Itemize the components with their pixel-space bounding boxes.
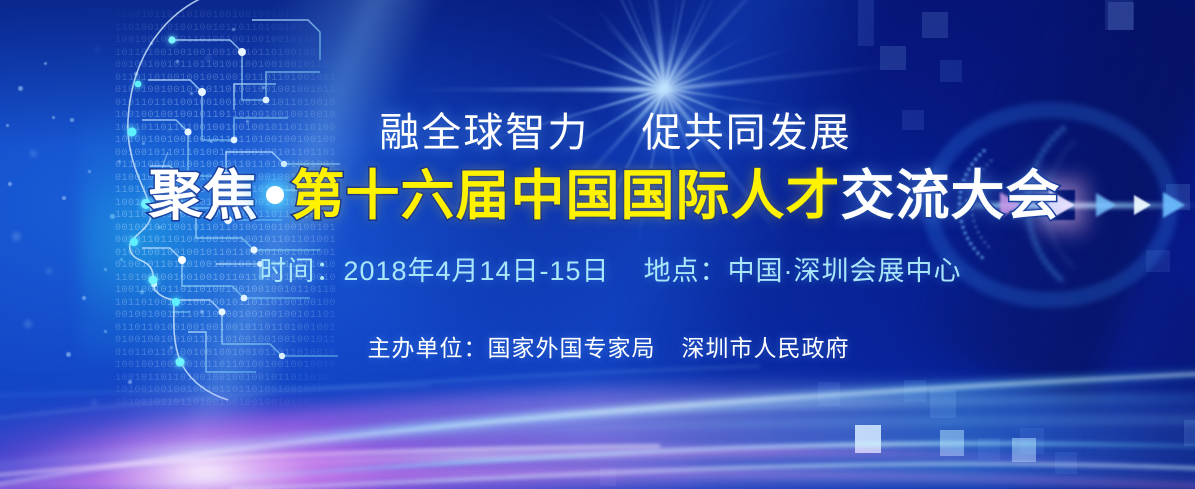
host-label: 主办单位： (368, 335, 488, 361)
tagline-part-2: 促共同发展 (642, 111, 852, 155)
title-focus-word: 聚焦 (149, 166, 259, 226)
conference-banner: 0100101101101001001001001011011010 11010… (0, 0, 1195, 489)
time-value: 2018年4月14日-15日 (343, 256, 609, 286)
host-org-2: 深圳市人民政府 (682, 335, 850, 361)
title-yellow-text: 第十六届中国国际人才 (291, 166, 841, 226)
title-white-text: 交流大会 (841, 166, 1061, 226)
tagline: 融全球智力 促共同发展 (0, 100, 1195, 158)
page-title: 聚焦第十六届中国国际人才交流大会 (0, 164, 1195, 228)
event-meta-line: 时间：2018年4月14日-15日地点：中国·深圳会展中心 (0, 249, 1195, 288)
tagline-part-1: 融全球智力 (379, 111, 589, 155)
host-organizations-line: 主办单位：国家外国专家局深圳市人民政府 (0, 329, 1195, 363)
banner-text-content: 融全球智力 促共同发展 聚焦第十六届中国国际人才交流大会 时间：2018年4月1… (0, 0, 1195, 489)
time-label: 时间： (259, 256, 343, 286)
place-value: 中国·深圳会展中心 (728, 256, 962, 286)
host-org-1: 国家外国专家局 (488, 335, 656, 361)
title-separator-dot-icon (266, 186, 284, 204)
place-label: 地点： (644, 256, 728, 286)
